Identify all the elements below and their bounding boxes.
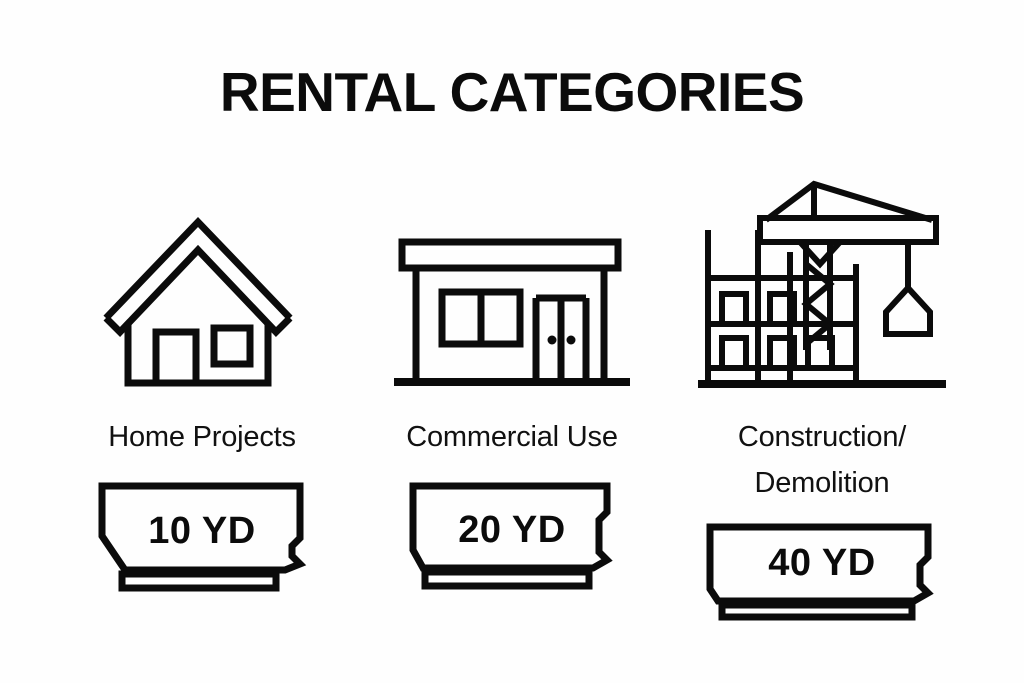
icon-area-commercial	[387, 160, 637, 400]
category-columns: Home Projects 10 YD	[0, 160, 1024, 630]
page-title: RENTAL CATEGORIES	[0, 64, 1024, 122]
dumpster-icon-40yd	[700, 517, 944, 625]
size-badge-home-projects[interactable]: 10 YD	[92, 478, 312, 598]
icon-area-construction	[697, 160, 947, 400]
house-icon	[94, 200, 310, 400]
size-badge-commercial-use[interactable]: 20 YD	[401, 478, 623, 596]
category-commercial-use[interactable]: Commercial Use 20 YD	[362, 160, 662, 596]
dumpster-icon-20yd	[401, 478, 623, 596]
category-label-construction-demolition: Construction/ Demolition	[738, 414, 906, 507]
size-badge-construction-demolition[interactable]: 40 YD	[700, 517, 944, 625]
construction-crane-icon	[696, 172, 948, 400]
category-construction-demolition[interactable]: Construction/ Demolition 40 YD	[672, 160, 972, 625]
dumpster-icon-10yd	[92, 478, 312, 598]
commercial-building-icon	[390, 232, 634, 400]
icon-area-home	[77, 160, 327, 400]
category-home-projects[interactable]: Home Projects 10 YD	[52, 160, 352, 598]
rental-categories-poster: RENTAL CATEGORIES Home Projects	[0, 0, 1024, 683]
category-label-commercial-use: Commercial Use	[406, 414, 618, 460]
category-label-home-projects: Home Projects	[108, 414, 296, 460]
